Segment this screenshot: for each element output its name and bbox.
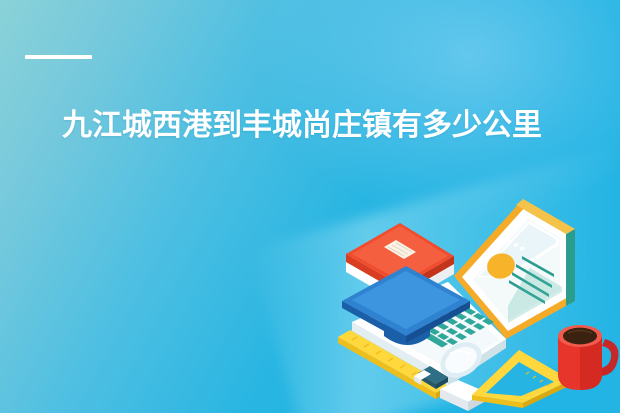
education-desk-illustration (330, 196, 620, 413)
coffee-mug-icon (558, 325, 618, 390)
page-title: 九江城西港到丰城尚庄镇有多少公里 (62, 107, 582, 145)
accent-rule (25, 55, 92, 59)
banner: 九江城西港到丰城尚庄镇有多少公里 (0, 0, 620, 413)
